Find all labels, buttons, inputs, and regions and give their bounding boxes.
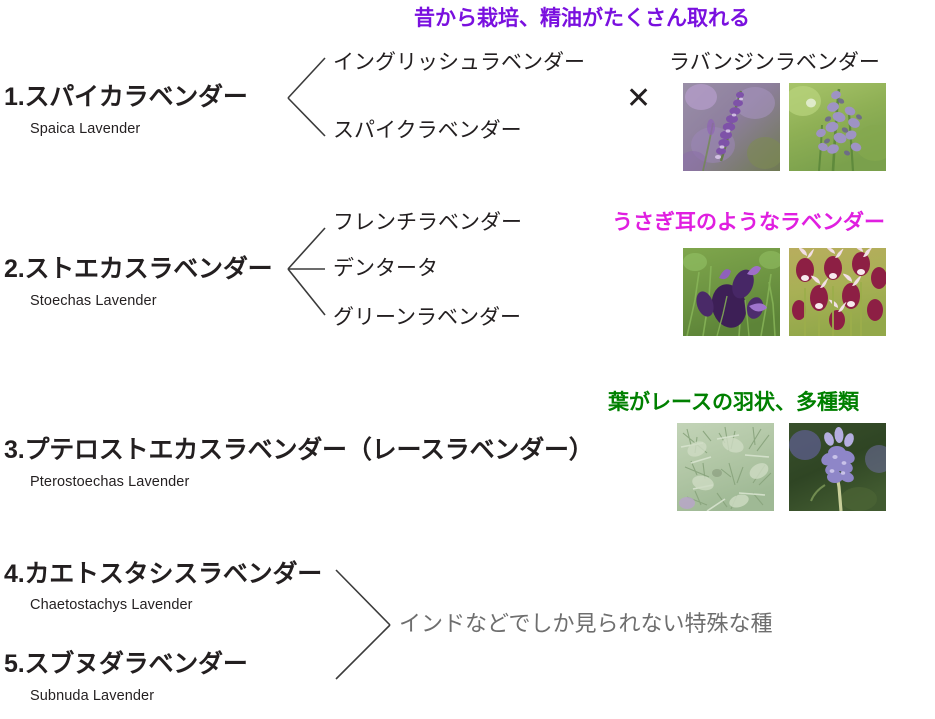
bottom-note: インドなどでしか見られない特殊な種 [399,613,773,635]
lavender-classification-diagram: 昔から栽培、精油がたくさん取れる イングリッシュラベンダー ラバンジンラベンダー… [0,0,935,719]
